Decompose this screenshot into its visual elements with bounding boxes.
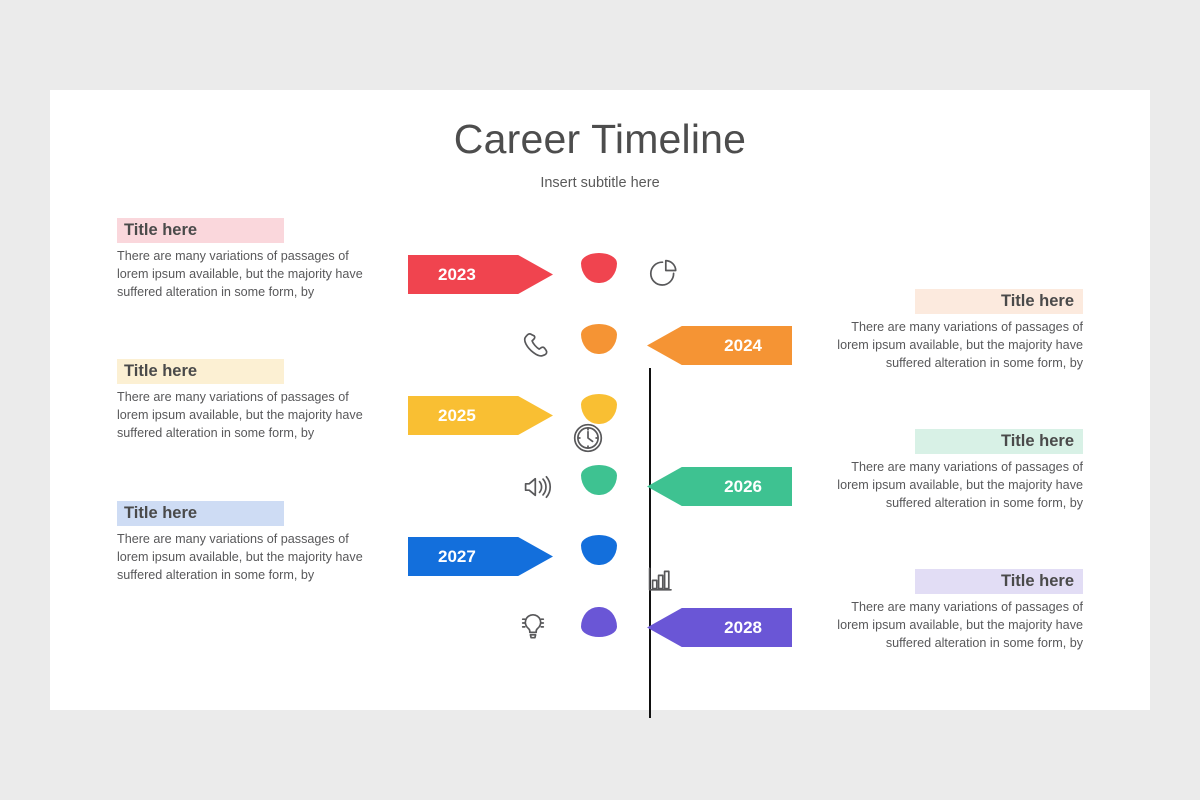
year-arrow-2024[interactable]: 2024 [647, 326, 792, 365]
block-title: Title here [915, 289, 1083, 314]
timeline-node-2027[interactable] [581, 535, 617, 565]
block-body: There are many variations of passages of… [833, 599, 1083, 653]
year-label: 2028 [724, 618, 762, 638]
year-label: 2024 [724, 336, 762, 356]
pie-chart-icon [642, 254, 682, 294]
block-body: There are many variations of passages of… [117, 248, 367, 302]
right-text-block-3: Title here There are many variations of … [833, 569, 1083, 653]
year-arrow-2026[interactable]: 2026 [647, 467, 792, 506]
title-wrap: Title here [915, 433, 1083, 450]
right-text-block-2: Title here There are many variations of … [833, 429, 1083, 513]
timeline-spine [649, 368, 651, 718]
timeline-node-2026[interactable] [581, 465, 617, 495]
title-wrap: Title here [915, 573, 1083, 590]
right-text-block-1: Title here There are many variations of … [833, 289, 1083, 373]
year-arrow-2028[interactable]: 2028 [647, 608, 792, 647]
year-arrow-2025[interactable]: 2025 [408, 396, 553, 435]
year-arrow-2027[interactable]: 2027 [408, 537, 553, 576]
slide-header: Career Timeline Insert subtitle here [50, 90, 1150, 191]
block-body: There are many variations of passages of… [117, 531, 367, 585]
title-wrap: Title here [117, 501, 367, 526]
block-title: Title here [117, 501, 284, 526]
title-wrap: Title here [117, 218, 367, 243]
block-title: Title here [915, 569, 1083, 594]
block-title: Title here [117, 359, 284, 384]
block-body: There are many variations of passages of… [833, 459, 1083, 513]
year-arrow-2023[interactable]: 2023 [408, 255, 553, 294]
timeline-node-2028[interactable] [581, 607, 617, 637]
slide-card: Career Timeline Insert subtitle here Tit… [50, 90, 1150, 710]
block-title: Title here [117, 218, 284, 243]
year-label: 2025 [438, 406, 476, 426]
year-label: 2027 [438, 547, 476, 567]
lightbulb-icon [513, 606, 553, 646]
left-text-block-2: Title here There are many variations of … [117, 359, 367, 443]
title-wrap: Title here [117, 359, 367, 384]
page-subtitle: Insert subtitle here [50, 175, 1150, 191]
block-body: There are many variations of passages of… [117, 389, 367, 443]
clock-icon [568, 418, 608, 458]
speaker-icon [516, 467, 556, 507]
timeline-node-2024[interactable] [581, 324, 617, 354]
block-title: Title here [915, 429, 1083, 454]
title-wrap: Title here [915, 293, 1083, 310]
timeline-node-2023[interactable] [581, 253, 617, 283]
year-label: 2026 [724, 477, 762, 497]
block-body: There are many variations of passages of… [833, 319, 1083, 373]
year-label: 2023 [438, 265, 476, 285]
left-text-block-3: Title here There are many variations of … [117, 501, 367, 585]
left-text-block-1: Title here There are many variations of … [117, 218, 367, 302]
phone-icon [516, 326, 556, 366]
bar-chart-icon [640, 560, 680, 600]
page-title: Career Timeline [50, 116, 1150, 163]
